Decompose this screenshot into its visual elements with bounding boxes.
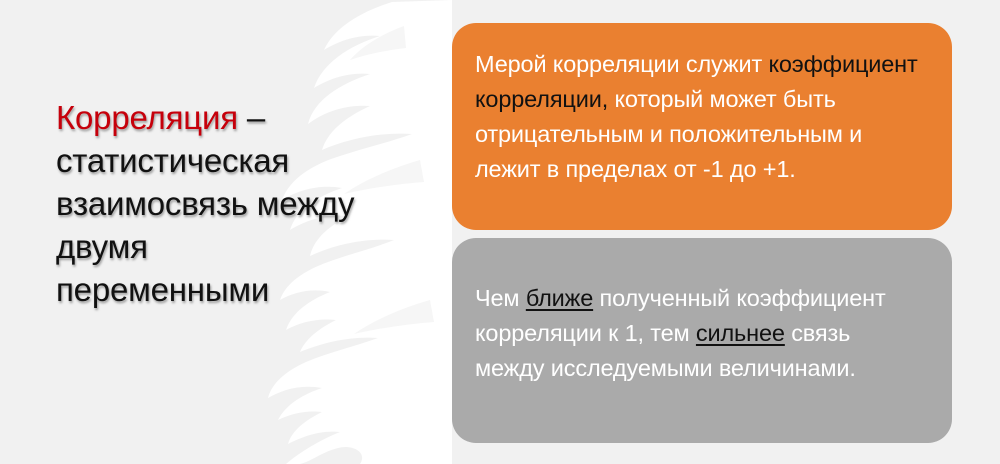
callout-gray-text: Чем ближе полученный коэффициент корреля… <box>475 281 922 386</box>
slide-canvas: Корреляция – статистическая взаимосвязь … <box>0 0 1000 464</box>
callout-orange-text: Мерой корреляции служит коэффициент корр… <box>475 47 922 187</box>
callout-gray-emphasis-blizhe: ближе <box>526 285 593 311</box>
callout-gray: Чем ближе полученный коэффициент корреля… <box>452 238 952 443</box>
callout-gray-segment-1: Чем <box>475 285 526 311</box>
page-title-keyword: Корреляция <box>56 99 238 136</box>
callout-orange: Мерой корреляции служит коэффициент корр… <box>452 23 952 230</box>
callout-gray-emphasis-silnee: сильнее <box>696 320 785 346</box>
page-title: Корреляция – статистическая взаимосвязь … <box>56 96 356 311</box>
callout-orange-segment-1: Мерой корреляции служит <box>475 51 768 77</box>
